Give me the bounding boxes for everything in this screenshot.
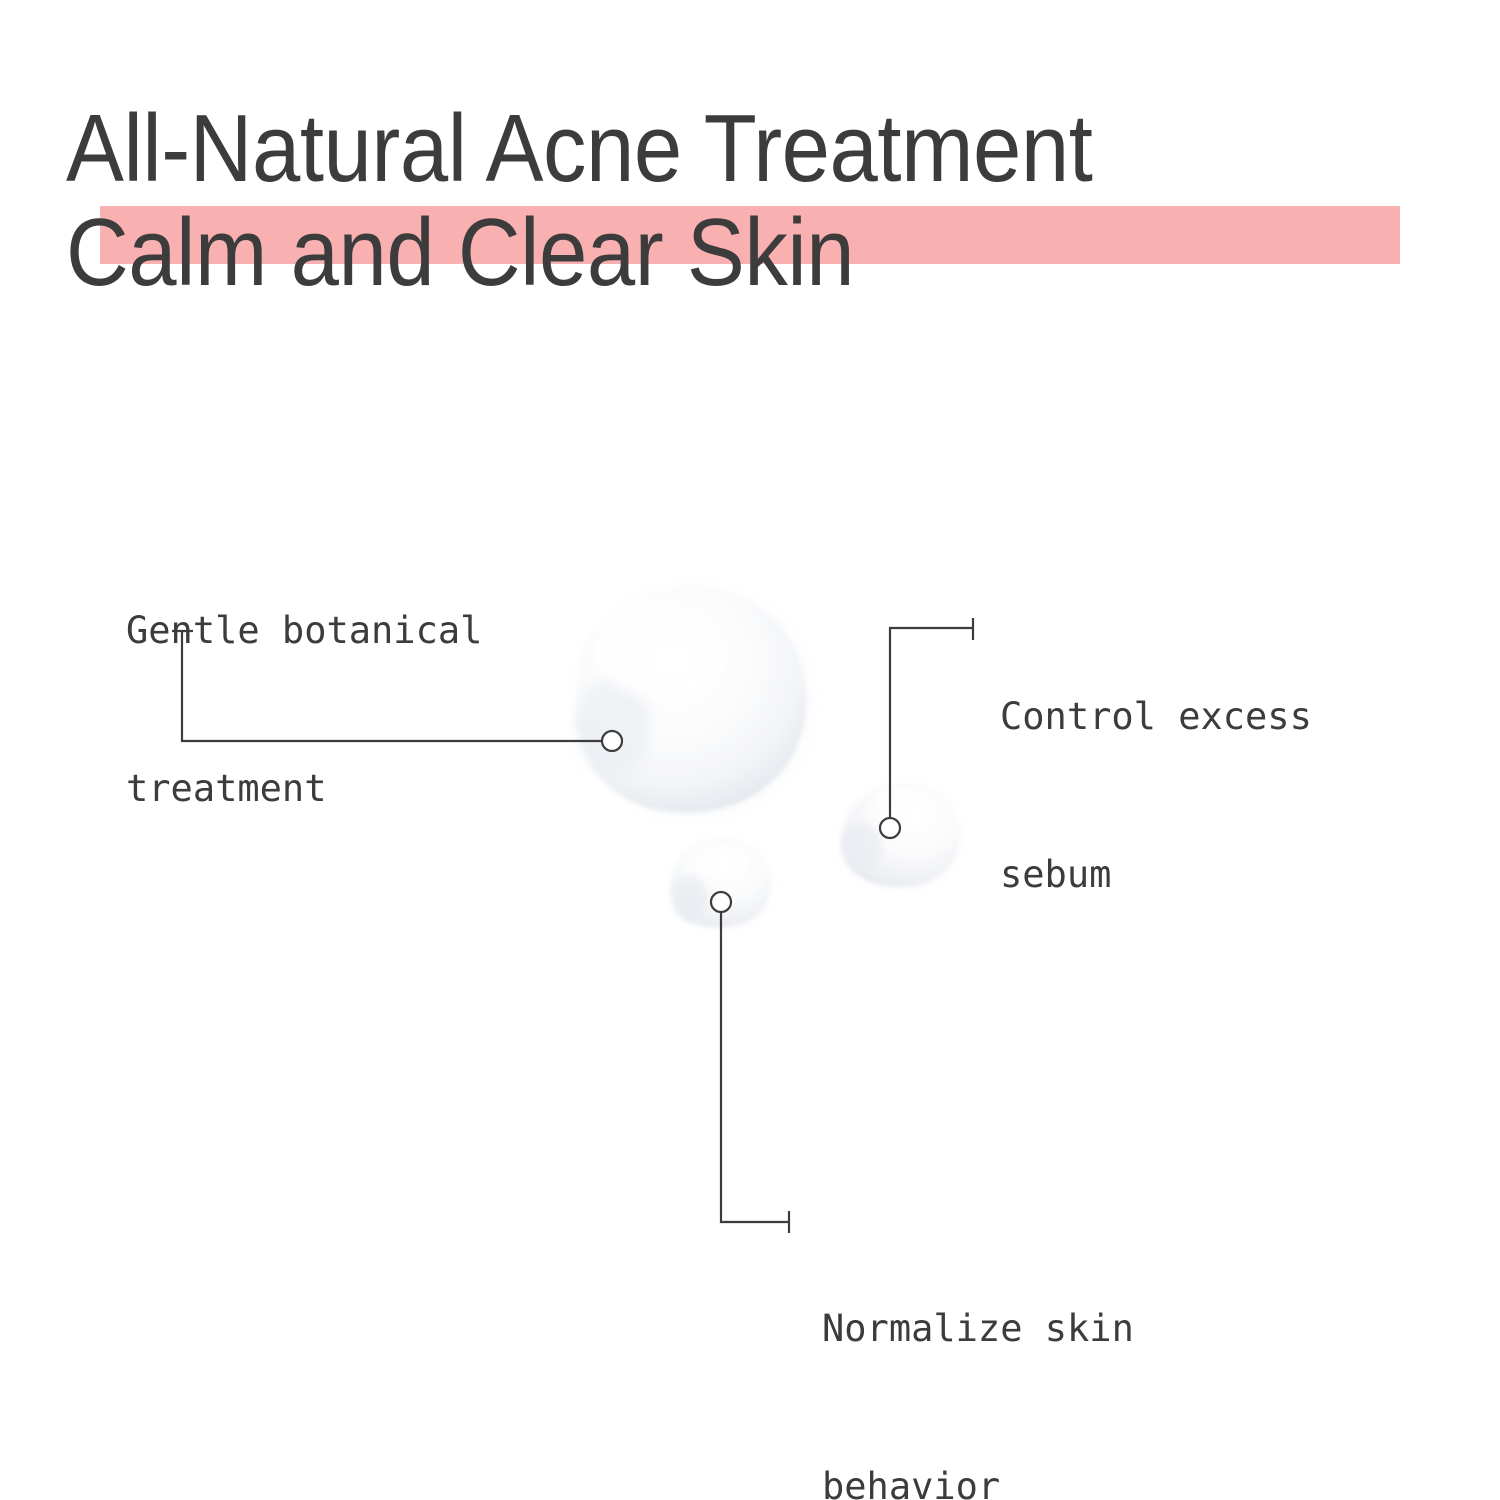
medium-droplet xyxy=(835,778,967,894)
callout-gentle-line-1: Gentle botanical xyxy=(126,605,482,658)
callout-label-gentle-botanical: Gentle botanical treatment xyxy=(126,500,482,920)
callout-sebum-line-1: Control excess xyxy=(1000,691,1312,744)
callout-normalize-line-1: Normalize skin xyxy=(822,1303,1134,1356)
small-droplet-highlight xyxy=(695,846,749,876)
callout-gentle-line-2: treatment xyxy=(126,763,482,816)
medium-droplet-highlight xyxy=(874,788,936,824)
callout-label-normalize-skin: Normalize skin behavior xyxy=(822,1198,1134,1500)
product-infographic: All-Natural Acne Treatment Calm and Clea… xyxy=(0,0,1500,1500)
medium-droplet-lobe xyxy=(842,822,882,874)
callout-sebum-line-2: sebum xyxy=(1000,849,1312,902)
large-droplet xyxy=(566,576,822,828)
page-title-line-2: Calm and Clear Skin xyxy=(66,205,854,301)
small-droplet-lobe xyxy=(672,876,708,920)
large-droplet-highlight xyxy=(594,602,726,698)
callout-label-control-sebum: Control excess sebum xyxy=(1000,586,1312,1006)
callout-normalize-line-2: behavior xyxy=(822,1461,1134,1500)
small-droplet xyxy=(665,834,777,934)
